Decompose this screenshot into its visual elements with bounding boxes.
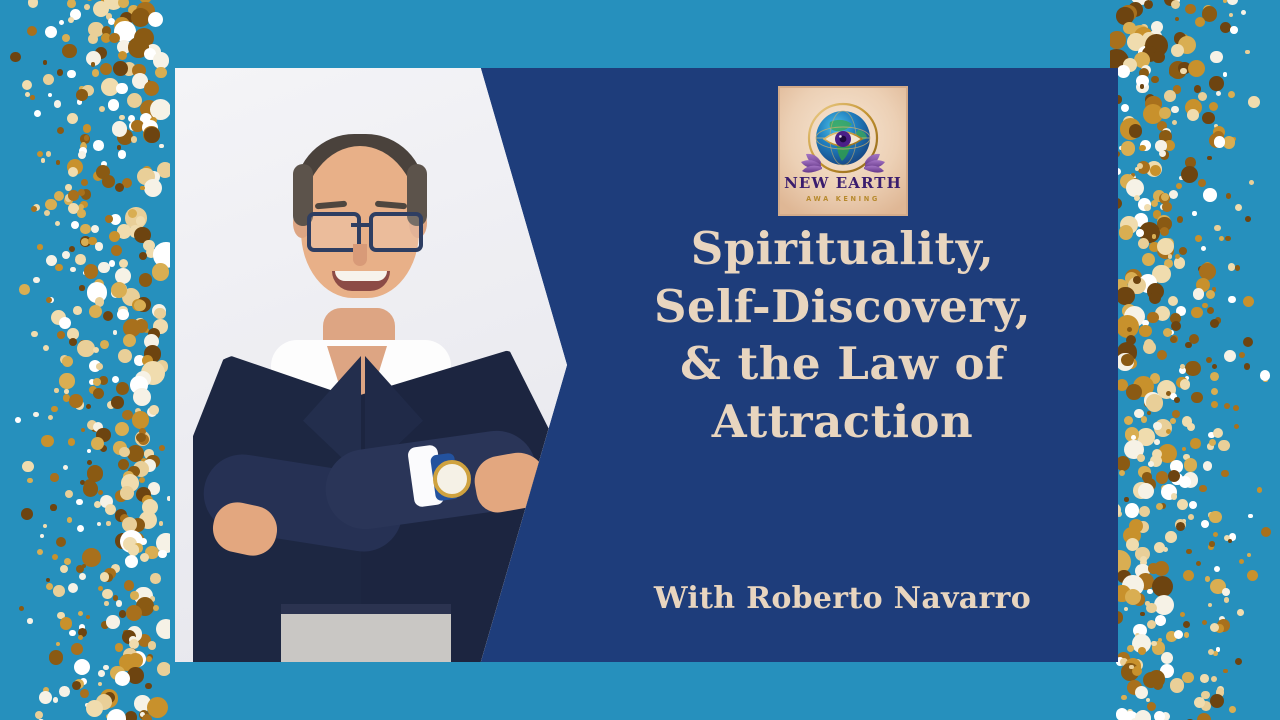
- confetti-dot: [1129, 665, 1134, 670]
- logo-brand-text: NEW EARTH: [784, 174, 902, 192]
- confetti-dot: [1139, 506, 1150, 517]
- confetti-dot: [1122, 575, 1143, 596]
- confetti-dot: [133, 533, 145, 545]
- confetti-dot: [134, 300, 146, 312]
- confetti-dot: [80, 143, 87, 150]
- confetti-dot: [1179, 34, 1189, 44]
- confetti-dot: [46, 255, 57, 266]
- confetti-dot: [133, 543, 143, 553]
- confetti-dot: [1196, 561, 1201, 566]
- confetti-dot: [1142, 320, 1149, 327]
- confetti-dot: [131, 120, 144, 133]
- confetti-dot: [67, 113, 78, 124]
- confetti-dot: [1209, 541, 1214, 546]
- confetti-dot: [68, 167, 78, 177]
- confetti-dot: [1179, 176, 1184, 181]
- confetti-dot: [1241, 10, 1246, 15]
- confetti-dot: [1203, 5, 1213, 15]
- title-line-4: Attraction: [581, 393, 1104, 451]
- confetti-dot: [43, 687, 49, 693]
- confetti-dot: [76, 499, 83, 506]
- confetti-dot: [1188, 514, 1194, 520]
- eyeglasses-right-lens: [369, 212, 423, 252]
- confetti-dot: [48, 415, 54, 421]
- confetti-dot: [1194, 697, 1205, 708]
- confetti-dot: [1205, 576, 1211, 582]
- confetti-dot: [1173, 85, 1182, 94]
- confetti-dot: [1263, 378, 1268, 383]
- confetti-dot: [115, 509, 128, 522]
- confetti-dot: [65, 194, 73, 202]
- confetti-dot: [1138, 46, 1152, 60]
- confetti-dot: [120, 530, 143, 553]
- confetti-dot: [93, 378, 101, 386]
- confetti-dot: [93, 140, 103, 150]
- confetti-dot: [83, 271, 88, 276]
- confetti-dot: [111, 288, 121, 298]
- confetti-dot: [43, 60, 48, 65]
- confetti-dot: [1243, 296, 1255, 308]
- confetti-dot: [1172, 410, 1180, 418]
- confetti-dot: [116, 83, 128, 95]
- confetti-dot: [118, 150, 126, 158]
- confetti-dot: [1145, 94, 1156, 105]
- confetti-border-right: [1110, 0, 1280, 720]
- confetti-dot: [86, 700, 103, 717]
- confetti-dot: [1134, 409, 1143, 418]
- confetti-dot: [1127, 709, 1133, 715]
- confetti-dot: [101, 0, 109, 5]
- confetti-dot: [115, 675, 125, 685]
- confetti-dot: [141, 458, 147, 464]
- confetti-dot: [89, 305, 102, 318]
- confetti-dot: [1142, 46, 1158, 62]
- confetti-dot: [99, 376, 107, 384]
- confetti-border-left: [0, 0, 170, 720]
- confetti-dot: [1146, 698, 1151, 703]
- confetti-dot: [1136, 229, 1144, 237]
- confetti-dot: [1211, 388, 1218, 395]
- confetti-dot: [112, 121, 128, 137]
- confetti-dot: [1144, 400, 1151, 407]
- confetti-dot: [1208, 649, 1214, 655]
- confetti-dot: [127, 445, 144, 462]
- confetti-dot: [1143, 672, 1159, 688]
- confetti-dot: [80, 678, 87, 685]
- confetti-dot: [1216, 647, 1221, 652]
- confetti-dot: [1127, 645, 1134, 652]
- confetti-dot: [148, 12, 163, 27]
- confetti-dot: [71, 221, 79, 229]
- confetti-dot: [115, 183, 124, 192]
- confetti-dot: [129, 225, 142, 238]
- confetti-dot: [1139, 325, 1151, 337]
- confetti-dot: [46, 578, 50, 582]
- confetti-dot: [68, 190, 79, 201]
- confetti-dot: [121, 474, 139, 492]
- confetti-dot: [1159, 107, 1171, 119]
- confetti-dot: [1140, 140, 1151, 151]
- confetti-dot: [1141, 65, 1151, 75]
- confetti-dot: [115, 675, 123, 683]
- confetti-dot: [101, 78, 119, 96]
- confetti-dot: [1159, 150, 1166, 157]
- confetti-dot: [45, 199, 57, 211]
- confetti-dot: [140, 113, 152, 125]
- content-panel: NEW EARTH AWA KENING Spirituality, Self-…: [567, 68, 1118, 662]
- confetti-dot: [67, 328, 79, 340]
- confetti-dot: [1209, 133, 1224, 148]
- confetti-dot: [1124, 440, 1143, 459]
- confetti-dot: [1162, 202, 1172, 212]
- confetti-dot: [1147, 702, 1156, 711]
- confetti-dot: [1208, 544, 1214, 550]
- confetti-dot: [1261, 527, 1271, 537]
- confetti-dot: [1157, 215, 1171, 229]
- confetti-dot: [139, 477, 145, 483]
- confetti-dot: [1214, 136, 1225, 147]
- confetti-dot: [1127, 33, 1145, 51]
- confetti-dot: [1117, 65, 1130, 78]
- confetti-dot: [79, 147, 87, 155]
- confetti-dot: [100, 340, 109, 349]
- confetti-dot: [117, 129, 133, 145]
- confetti-dot: [22, 461, 33, 472]
- confetti-dot: [35, 711, 43, 719]
- presenter-name: With Roberto Navarro: [567, 581, 1118, 616]
- confetti-dot: [1172, 120, 1177, 125]
- confetti-dot: [60, 355, 69, 364]
- confetti-dot: [1171, 321, 1181, 331]
- confetti-dot: [1169, 61, 1187, 79]
- confetti-dot: [1162, 128, 1171, 137]
- confetti-dot: [115, 422, 129, 436]
- confetti-dot: [1185, 4, 1196, 15]
- confetti-dot: [37, 151, 43, 157]
- confetti-dot: [1125, 314, 1130, 319]
- confetti-dot: [84, 479, 96, 491]
- confetti-dot: [1146, 394, 1164, 412]
- confetti-dot: [1135, 633, 1140, 638]
- confetti-dot: [1221, 470, 1229, 478]
- confetti-dot: [106, 13, 112, 19]
- confetti-dot: [122, 517, 137, 532]
- confetti-dot: [141, 361, 166, 386]
- confetti-dot: [1128, 2, 1144, 18]
- confetti-dot: [123, 334, 136, 347]
- confetti-dot: [1154, 439, 1160, 445]
- confetti-dot: [153, 52, 170, 69]
- speaker-photo: [175, 68, 567, 662]
- confetti-dot: [142, 495, 153, 506]
- confetti-dot: [125, 711, 137, 720]
- confetti-dot: [96, 165, 110, 179]
- confetti-dot: [1140, 559, 1147, 566]
- confetti-dot: [105, 504, 116, 515]
- confetti-dot: [1128, 277, 1146, 295]
- confetti-dot: [64, 558, 71, 565]
- confetti-dot: [1229, 13, 1233, 17]
- confetti-dot: [1158, 444, 1177, 463]
- confetti-dot: [115, 268, 131, 284]
- confetti-dot: [1228, 263, 1235, 270]
- confetti-dot: [1168, 470, 1180, 482]
- watch-face: [433, 460, 471, 498]
- confetti-dot: [1129, 519, 1143, 533]
- confetti-dot: [1137, 428, 1154, 445]
- confetti-dot: [1160, 204, 1166, 210]
- confetti-dot: [1178, 36, 1196, 54]
- confetti-dot: [82, 548, 101, 567]
- confetti-dot: [86, 51, 101, 66]
- confetti-dot: [1219, 616, 1225, 622]
- confetti-dot: [1211, 401, 1218, 408]
- confetti-dot: [1154, 595, 1174, 615]
- confetti-dot: [33, 412, 38, 417]
- confetti-dot: [45, 26, 57, 38]
- confetti-dot: [1125, 658, 1142, 675]
- confetti-dot: [1195, 17, 1205, 27]
- confetti-dot: [1213, 651, 1218, 656]
- confetti-dot: [1147, 411, 1151, 415]
- confetti-dot: [87, 465, 103, 481]
- confetti-dot: [1244, 363, 1250, 369]
- confetti-dot: [1217, 619, 1230, 632]
- confetti-dot: [80, 236, 90, 246]
- confetti-dot: [118, 51, 128, 61]
- confetti-dot: [135, 319, 148, 332]
- confetti-dot: [136, 216, 146, 226]
- confetti-dot: [153, 319, 168, 334]
- confetti-dot: [79, 340, 87, 348]
- confetti-dot: [1257, 487, 1262, 492]
- confetti-dot: [1215, 317, 1222, 324]
- confetti-dot: [1171, 335, 1178, 342]
- confetti-dot: [1133, 376, 1154, 397]
- confetti-dot: [136, 297, 151, 312]
- confetti-dot: [68, 17, 74, 23]
- confetti-dot: [1176, 183, 1182, 189]
- slide-canvas: NEW EARTH AWA KENING Spirituality, Self-…: [0, 0, 1280, 720]
- new-earth-logo-icon: NEW EARTH AWA KENING: [778, 86, 908, 216]
- confetti-dot: [37, 244, 43, 250]
- confetti-dot: [1169, 190, 1178, 199]
- confetti-dot: [1139, 68, 1149, 78]
- confetti-dot: [1127, 680, 1142, 695]
- confetti-dot: [21, 508, 33, 520]
- confetti-dot: [1125, 579, 1141, 595]
- confetti-dot: [149, 405, 159, 415]
- confetti-dot: [104, 0, 123, 10]
- confetti-dot: [1153, 190, 1165, 202]
- confetti-dot: [1202, 620, 1207, 625]
- confetti-dot: [54, 388, 58, 392]
- confetti-dot: [1125, 269, 1142, 286]
- confetti-dot: [138, 434, 150, 446]
- confetti-dot: [1180, 379, 1190, 389]
- confetti-dot: [1149, 242, 1160, 253]
- confetti-dot: [1149, 292, 1161, 304]
- confetti-dot: [52, 554, 58, 560]
- confetti-dot: [1126, 179, 1144, 197]
- confetti-dot: [1130, 0, 1153, 5]
- confetti-dot: [1136, 81, 1149, 94]
- confetti-dot: [1177, 499, 1188, 510]
- confetti-dot: [1209, 102, 1218, 111]
- confetti-dot: [133, 461, 149, 477]
- confetti-dot: [132, 299, 145, 312]
- confetti-dot: [1187, 109, 1199, 121]
- confetti-dot: [1174, 397, 1180, 403]
- confetti-dot: [117, 40, 131, 54]
- confetti-dot: [54, 100, 62, 108]
- confetti-dot: [1227, 0, 1237, 5]
- confetti-dot: [1185, 99, 1202, 116]
- confetti-dot: [1207, 156, 1211, 160]
- confetti-dot: [1153, 679, 1164, 690]
- confetti-dot: [103, 311, 113, 321]
- trousers-shape: [281, 608, 451, 662]
- confetti-dot: [81, 238, 90, 247]
- confetti-dot: [1165, 531, 1177, 543]
- confetti-dot: [1230, 26, 1237, 33]
- confetti-dot: [1209, 76, 1224, 91]
- confetti-dot: [144, 48, 156, 60]
- confetti-dot: [102, 26, 112, 36]
- confetti-dot: [128, 5, 138, 15]
- confetti-dot: [1235, 658, 1242, 665]
- confetti-dot: [1155, 615, 1166, 626]
- page-title: Spirituality, Self-Discovery, & the Law …: [567, 220, 1118, 450]
- confetti-dot: [116, 600, 122, 606]
- confetti-dot: [1170, 678, 1184, 692]
- confetti-dot: [1245, 50, 1249, 54]
- confetti-dot: [120, 12, 133, 25]
- speaker-photo-illustration: [175, 68, 567, 662]
- confetti-dot: [70, 267, 75, 272]
- confetti-dot: [88, 22, 103, 37]
- confetti-dot: [1182, 672, 1194, 684]
- confetti-dot: [110, 666, 125, 681]
- confetti-dot: [1189, 334, 1200, 345]
- confetti-dot: [1133, 276, 1141, 284]
- confetti-dot: [147, 171, 159, 183]
- confetti-dot: [1211, 676, 1217, 682]
- confetti-dot: [53, 697, 58, 702]
- confetti-dot: [119, 447, 129, 457]
- confetti-dot: [1234, 424, 1239, 429]
- confetti-dot: [135, 318, 145, 328]
- confetti-dot: [1157, 238, 1174, 255]
- confetti-dot: [1149, 606, 1153, 610]
- confetti-dot: [1134, 195, 1140, 201]
- confetti-dot: [1208, 603, 1212, 607]
- confetti-dot: [1121, 663, 1139, 681]
- confetti-dot: [1171, 106, 1179, 114]
- confetti-dot: [39, 691, 52, 704]
- confetti-dot: [1138, 647, 1146, 655]
- confetti-dot: [1167, 486, 1178, 497]
- confetti-dot: [1228, 296, 1236, 304]
- confetti-dot: [64, 196, 73, 205]
- confetti-dot: [22, 80, 32, 90]
- confetti-dot: [31, 331, 38, 338]
- confetti-dot: [87, 420, 97, 430]
- confetti-dot: [67, 0, 76, 8]
- confetti-dot: [1124, 306, 1145, 327]
- confetti-dot: [98, 682, 103, 687]
- confetti-dot: [1146, 161, 1162, 177]
- confetti-dot: [100, 495, 114, 509]
- confetti-dot: [1137, 521, 1149, 533]
- confetti-dot: [1170, 418, 1176, 424]
- confetti-dot: [1248, 96, 1260, 108]
- confetti-dot: [140, 186, 145, 191]
- confetti-dot: [1152, 265, 1171, 284]
- confetti-dot: [1225, 236, 1230, 241]
- confetti-dot: [1164, 0, 1177, 6]
- confetti-dot: [1155, 140, 1166, 151]
- confetti-dot: [1120, 118, 1141, 139]
- confetti-dot: [43, 74, 54, 85]
- confetti-dot: [140, 100, 158, 118]
- confetti-dot: [60, 617, 72, 629]
- confetti-dot: [1231, 137, 1236, 142]
- confetti-dot: [72, 681, 81, 690]
- confetti-dot: [1206, 357, 1212, 363]
- confetti-dot: [115, 671, 131, 687]
- confetti-dot: [51, 406, 58, 413]
- confetti-dot: [128, 37, 149, 58]
- confetti-dot: [106, 615, 119, 628]
- confetti-dot: [88, 34, 98, 44]
- confetti-dot: [1133, 588, 1139, 594]
- confetti-dot: [1195, 235, 1201, 241]
- confetti-dot: [1224, 535, 1230, 541]
- confetti-dot: [106, 521, 110, 525]
- confetti-dot: [1151, 641, 1156, 646]
- confetti-dot: [55, 264, 62, 271]
- confetti-dot: [51, 310, 66, 325]
- confetti-dot: [84, 4, 90, 10]
- confetti-dot: [123, 648, 138, 663]
- confetti-dot: [1132, 666, 1142, 676]
- confetti-dot: [1206, 290, 1215, 299]
- confetti-dot: [1174, 257, 1185, 268]
- confetti-dot: [1110, 31, 1126, 49]
- confetti-dot: [142, 355, 153, 366]
- confetti-dot: [1169, 330, 1174, 335]
- confetti-dot: [41, 435, 54, 448]
- confetti-dot: [1208, 432, 1214, 438]
- confetti-dot: [111, 396, 123, 408]
- confetti-dot: [96, 363, 103, 370]
- confetti-dot: [1171, 473, 1183, 485]
- confetti-dot: [85, 703, 90, 708]
- confetti-dot: [1154, 711, 1166, 720]
- confetti-dot: [146, 656, 152, 662]
- confetti-dot: [152, 263, 170, 281]
- confetti-dot: [1156, 503, 1163, 510]
- confetti-dot: [117, 145, 122, 150]
- confetti-dot: [134, 355, 144, 365]
- confetti-dot: [69, 338, 77, 346]
- confetti-dot: [91, 62, 96, 67]
- confetti-dot: [33, 204, 40, 211]
- confetti-dot: [122, 410, 132, 420]
- confetti-dot: [150, 573, 160, 583]
- confetti-dot: [37, 549, 43, 555]
